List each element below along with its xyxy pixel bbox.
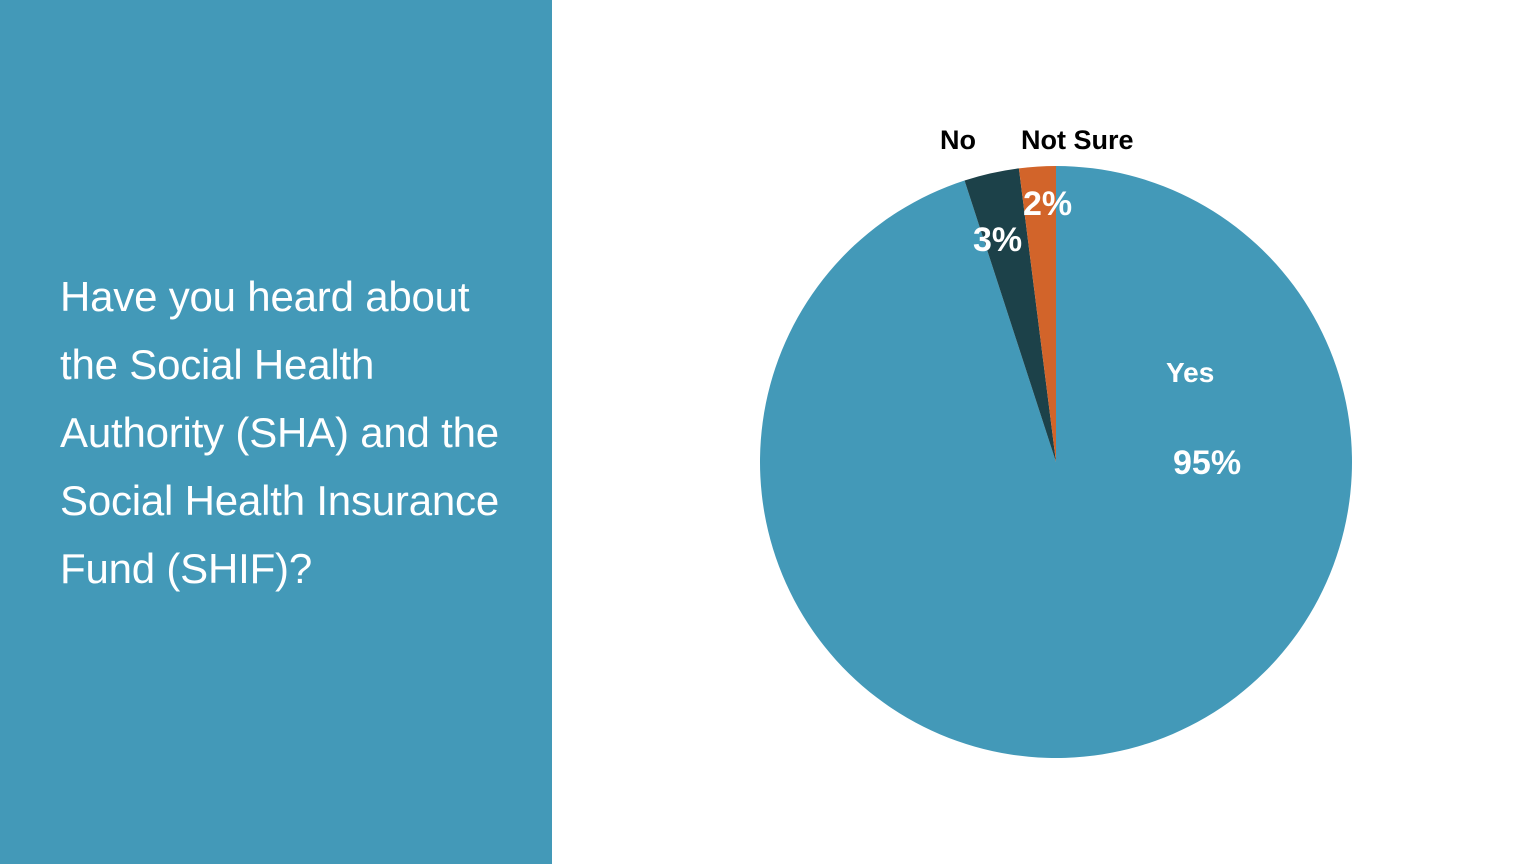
chart-area: No Not Sure 2% 3% Yes 95% xyxy=(552,0,1536,864)
question-text: Have you heard about the Social Health A… xyxy=(60,263,512,603)
pie-value-not-sure: 2% xyxy=(1023,185,1072,224)
pie-chart: No Not Sure 2% 3% Yes 95% xyxy=(552,0,1536,864)
pie-value-yes: 95% xyxy=(1173,444,1241,483)
pie-label-not-sure: Not Sure xyxy=(1021,125,1134,156)
pie-slices xyxy=(760,166,1352,758)
pie-slice-yes xyxy=(760,166,1352,758)
pie-label-yes: Yes xyxy=(1166,357,1214,389)
pie-label-no: No xyxy=(940,125,976,156)
pie-value-no: 3% xyxy=(973,221,1022,260)
question-panel: Have you heard about the Social Health A… xyxy=(0,0,552,864)
slide-root: Have you heard about the Social Health A… xyxy=(0,0,1536,864)
